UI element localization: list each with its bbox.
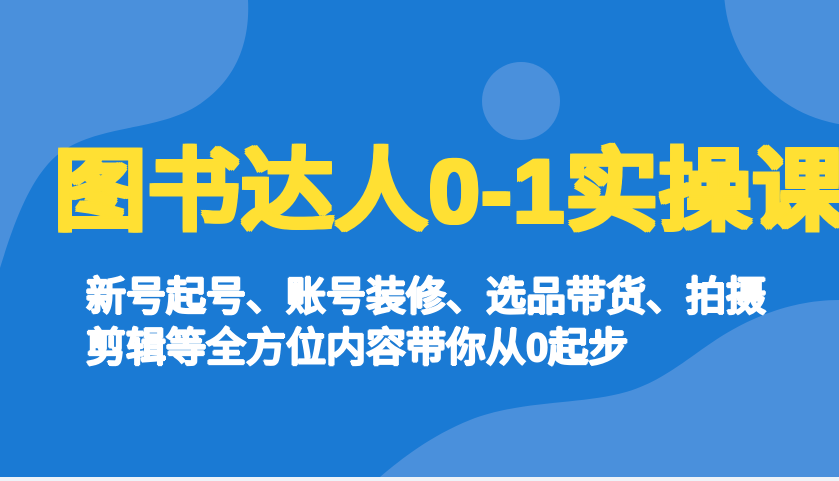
subtitle-line-2: 剪辑等全方位内容带你从0起步 (86, 323, 786, 374)
subtitle-line-1: 新号起号、账号装修、选品带货、拍摄 (86, 272, 786, 323)
text-layer: 图书达人0-1实操课 新号起号、账号装修、选品带货、拍摄 剪辑等全方位内容带你从… (0, 0, 839, 481)
banner-subtitle: 新号起号、账号装修、选品带货、拍摄 剪辑等全方位内容带你从0起步 (86, 272, 786, 374)
course-promo-banner: 图书达人0-1实操课 新号起号、账号装修、选品带货、拍摄 剪辑等全方位内容带你从… (0, 0, 839, 481)
banner-title: 图书达人0-1实操课 (54, 139, 824, 243)
bottom-strip (0, 477, 839, 481)
